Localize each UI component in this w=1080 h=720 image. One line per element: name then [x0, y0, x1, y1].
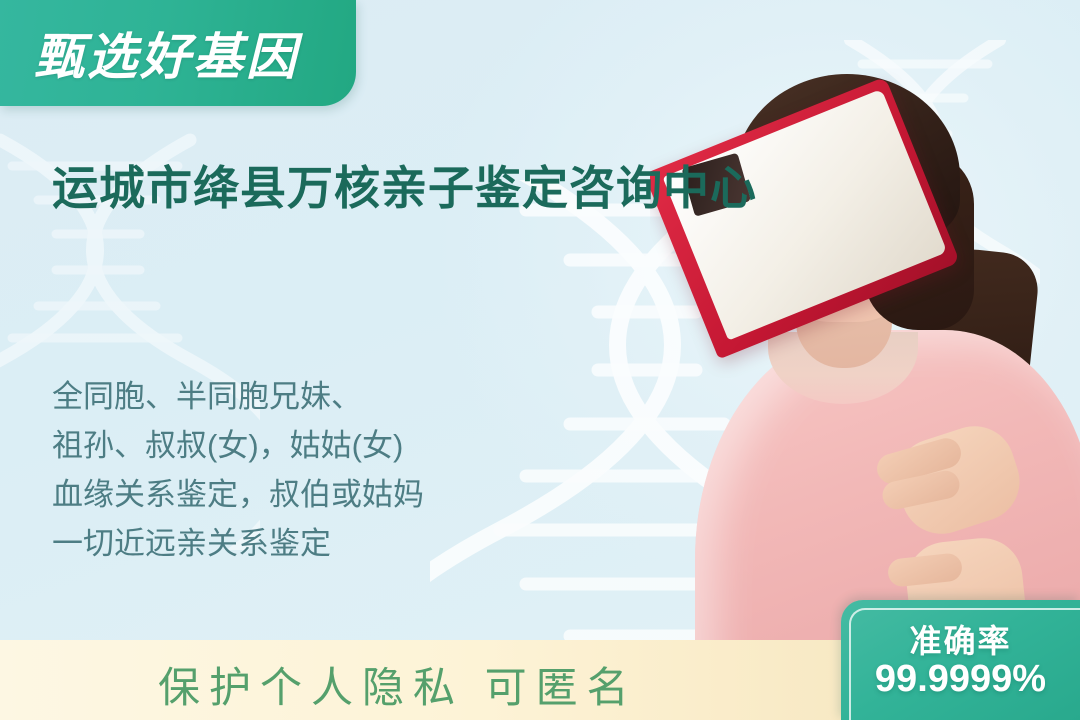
description-line: 祖孙、叔叔(女)，姑姑(女)	[52, 421, 424, 470]
accuracy-value: 99.9999%	[841, 658, 1080, 701]
brand-banner: 甄选好基因	[0, 0, 356, 106]
service-description: 全同胞、半同胞兄妹、 祖孙、叔叔(女)，姑姑(女) 血缘关系鉴定，叔伯或姑妈 一…	[52, 372, 424, 568]
privacy-message: 保护个人隐私 可匿名	[158, 654, 638, 715]
poster-canvas: 甄选好基因 运城市绛县万核亲子鉴定咨询中心 全同胞、半同胞兄妹、 祖孙、叔叔(女…	[0, 0, 1080, 720]
description-line: 一切近远亲关系鉴定	[52, 519, 424, 568]
accuracy-badge: 准确率 99.9999%	[841, 600, 1080, 720]
accuracy-label: 准确率	[841, 616, 1080, 662]
description-line: 血缘关系鉴定，叔伯或姑妈	[52, 470, 424, 519]
brand-logo-text: 甄选好基因	[34, 17, 299, 89]
page-title: 运城市绛县万核亲子鉴定咨询中心	[52, 152, 757, 218]
description-line: 全同胞、半同胞兄妹、	[52, 372, 424, 421]
